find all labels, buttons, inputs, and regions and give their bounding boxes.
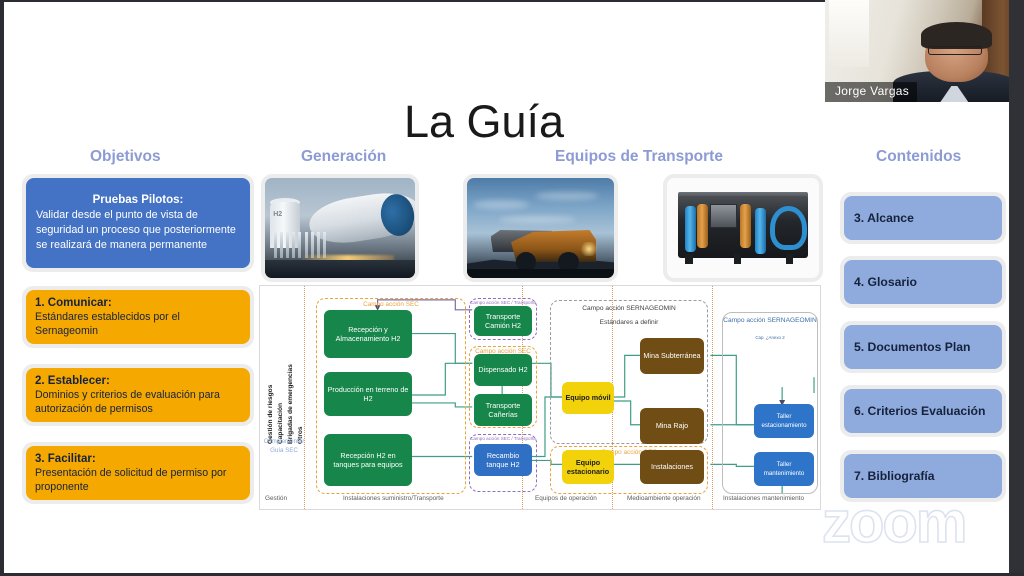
- node-dispensado-h2[interactable]: Dispensado H2: [474, 354, 532, 386]
- node-recepcion-almacenamiento-h2[interactable]: Recepción y Almacenamiento H2: [324, 310, 412, 358]
- contents-label: 7. Bibliografía: [854, 469, 935, 483]
- pruebas-pilotos-card: Pruebas Pilotos: Validar desde el punto …: [22, 174, 254, 272]
- objective-body: Estándares establecidos por el Sernageom…: [35, 310, 241, 338]
- bottom-label: Gestión: [265, 495, 287, 502]
- objective-card-establecer: 2. Establecer: Dominios y criterios de e…: [22, 364, 254, 426]
- hydrogen-fuel-cell-module-photo: [663, 174, 823, 282]
- participant-name-label: Jorge Vargas: [825, 82, 917, 102]
- contents-card-alcance: 3. Alcance: [840, 192, 1006, 244]
- diagram-vertical-labels: Gestión de riesgos Capacitación Brigadas…: [265, 308, 311, 493]
- objective-heading: 3. Facilitar:: [35, 453, 96, 465]
- process-flow-diagram: Gestión de riesgos Capacitación Brigadas…: [259, 285, 821, 510]
- window-edge-right: [1009, 0, 1024, 576]
- node-taller-mantenimiento[interactable]: Taller mantenimiento: [754, 452, 814, 486]
- window-edge-left: [0, 0, 4, 576]
- page-title: La Guía: [4, 96, 964, 148]
- diagram-bottom-labels: Gestión Instalaciones suministro/Transpo…: [259, 490, 821, 510]
- bottom-label: Equipos de operación: [535, 495, 597, 502]
- bottom-label: Instalaciones suministro/Transporte: [343, 495, 444, 502]
- zoom-screen-share-window: La Guía Objetivos Generación Equipos de …: [0, 0, 1024, 576]
- contents-label: 4. Glosario: [854, 275, 917, 289]
- contents-label: 6. Criterios Evaluación: [854, 404, 985, 418]
- group-label: Campo acción SEC / Transporte: [470, 436, 536, 441]
- contents-card-criterios-evaluacion: 6. Criterios Evaluación: [840, 385, 1006, 437]
- vertical-label: Gestión de riesgos: [267, 385, 274, 444]
- contents-label: 5. Documentos Plan: [854, 340, 970, 354]
- objective-heading: 2. Establecer:: [35, 375, 110, 387]
- group-label: Campo acción SERNAGEOMIN: [551, 305, 707, 312]
- node-equipo-estacionario[interactable]: Equipo estacionario: [562, 450, 614, 484]
- node-mina-rajo[interactable]: Mina Rajo: [640, 408, 704, 444]
- objective-body: Presentación de solicitud de permiso por…: [35, 466, 241, 494]
- node-taller-estacionamiento[interactable]: Taller estacionamiento: [754, 404, 814, 438]
- node-mina-subterranea[interactable]: Mina Subterránea: [640, 338, 704, 374]
- hydrogen-storage-plant-photo: H2: [261, 174, 419, 282]
- vertical-note-complementar-guia-sec: Complementar Guía SEC: [262, 438, 306, 455]
- column-heading-transporte: Equipos de Transporte: [555, 148, 723, 166]
- objective-card-comunicar: 1. Comunicar: Estándares establecidos po…: [22, 286, 254, 348]
- node-recepcion-h2-tanques[interactable]: Recepción H2 en tanques para equipos: [324, 434, 412, 486]
- photo-caption-h2: H2: [273, 211, 282, 218]
- node-recambio-tanque-h2[interactable]: Recambio tanque H2: [474, 444, 532, 476]
- contents-card-documentos-plan: 5. Documentos Plan: [840, 321, 1006, 373]
- group-label: Campo acción SEC: [317, 301, 465, 308]
- contents-card-glosario: 4. Glosario: [840, 256, 1006, 308]
- column-heading-contenidos: Contenidos: [876, 148, 961, 166]
- vertical-label: Brigadas de emergencias: [287, 364, 294, 444]
- bottom-label: Instalaciones mantenimiento: [723, 495, 804, 502]
- column-heading-objetivos: Objetivos: [90, 148, 161, 166]
- objective-card-facilitar: 3. Facilitar: Presentación de solicitud …: [22, 442, 254, 504]
- mining-haul-truck-photo: [463, 174, 618, 282]
- node-produccion-terreno-h2[interactable]: Producción en terreno de H2: [324, 372, 412, 416]
- group-sublabel: Estándares a definir: [551, 319, 707, 326]
- objective-heading: 1. Comunicar:: [35, 297, 112, 309]
- node-transporte-camion-h2[interactable]: Transporte Camión H2: [474, 306, 532, 336]
- objective-body: Dominios y criterios de evaluación para …: [35, 388, 241, 416]
- pruebas-pilotos-body: Validar desde el punto de vista de segur…: [36, 208, 240, 253]
- group-label: Campo acción SEC / Transporte: [470, 300, 536, 305]
- node-transporte-canerias[interactable]: Transporte Cañerías: [474, 394, 532, 426]
- contents-label: 3. Alcance: [854, 211, 914, 225]
- group-label: Campo acción SERNAGEOMIN: [723, 317, 817, 324]
- group-sublabel: Cap. ¿Anexo 2: [723, 335, 817, 340]
- pruebas-pilotos-heading: Pruebas Pilotos:: [36, 194, 240, 206]
- column-heading-generacion: Generación: [301, 148, 386, 166]
- node-equipo-movil[interactable]: Equipo móvil: [562, 382, 614, 414]
- zoom-watermark: zoom: [822, 494, 965, 552]
- bottom-label: Medioambiente operación: [627, 495, 701, 502]
- participant-video-tile[interactable]: Jorge Vargas: [825, 0, 1024, 102]
- node-instalaciones[interactable]: Instalaciones: [640, 450, 704, 484]
